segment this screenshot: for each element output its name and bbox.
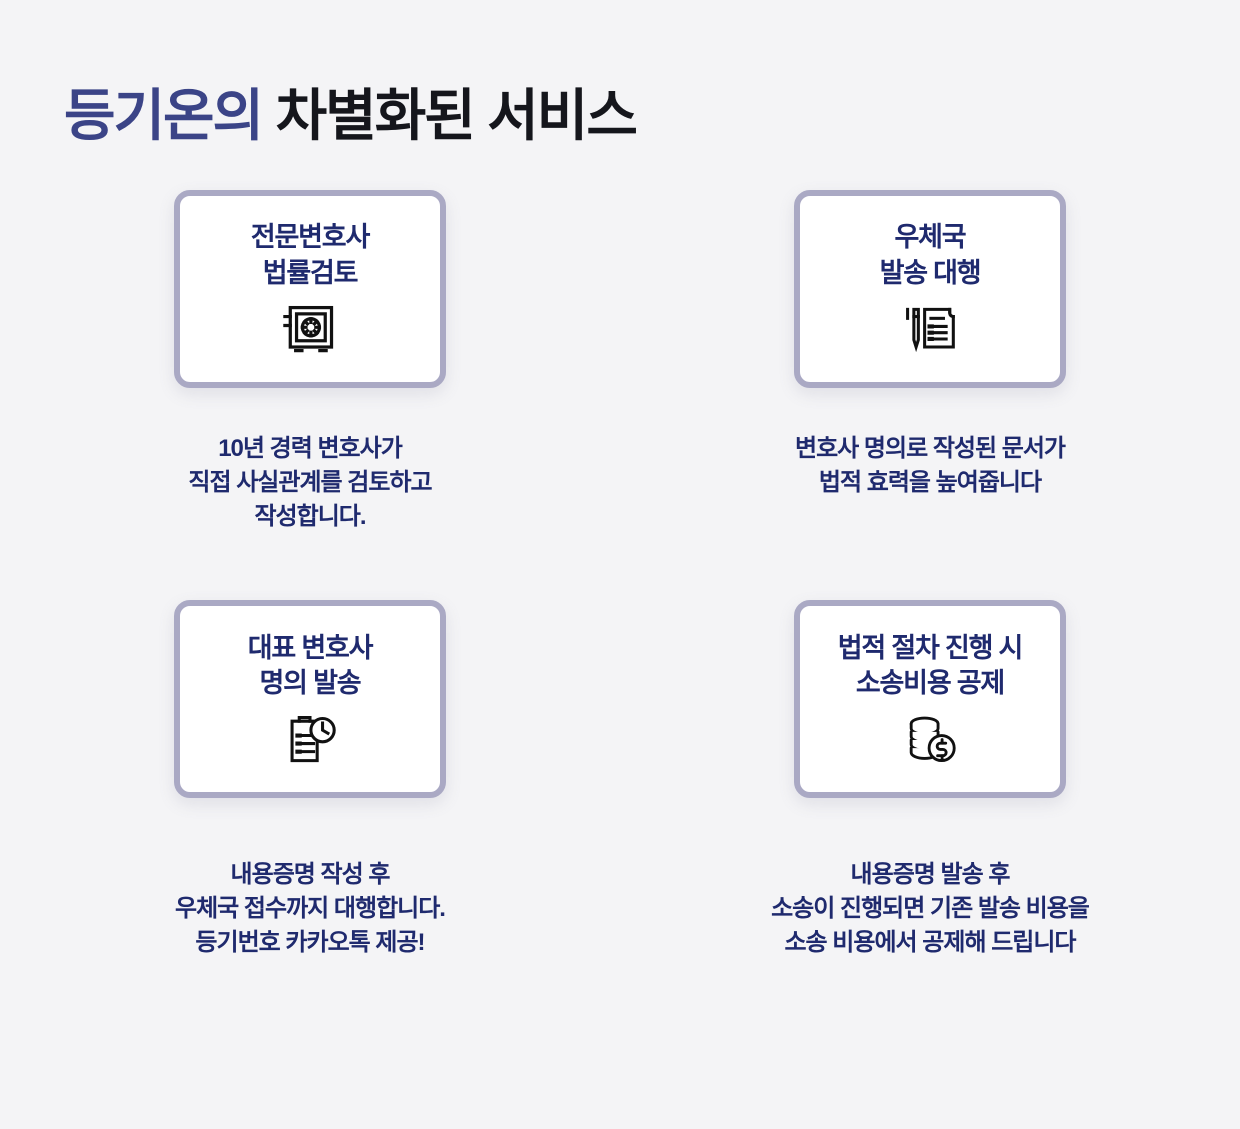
feature-caption-2: 변호사 명의로 작성된 문서가 법적 효력을 높여줍니다	[795, 432, 1065, 500]
page-title-rest: 차별화된 서비스	[262, 84, 636, 147]
feature-card-title-4: 법적 절차 진행 시 소송비용 공제	[838, 631, 1022, 702]
page-title: 등기온의 차별화된 서비스	[64, 84, 636, 148]
feature-card-title-1: 전문변호사 법률검토	[251, 220, 369, 291]
feature-card-4[interactable]: 법적 절차 진행 시 소송비용 공제	[794, 600, 1066, 798]
safe-vault-icon	[280, 304, 340, 356]
service-features-page: 등기온의 차별화된 서비스 전문변호사 법률검토 10년 경력 변호사가	[0, 0, 1240, 1129]
feature-item-4: 법적 절차 진행 시 소송비용 공제	[620, 600, 1240, 960]
feature-card-title-3: 대표 변호사 명의 발송	[248, 631, 373, 702]
feature-card-1[interactable]: 전문변호사 법률검토	[174, 190, 446, 388]
page-title-brand: 등기온의	[64, 84, 262, 147]
feature-caption-4: 내용증명 발송 후 소송이 진행되면 기존 발송 비용을 소송 비용에서 공제해…	[771, 858, 1089, 960]
feature-card-2[interactable]: 우체국 발송 대행	[794, 190, 1066, 388]
feature-caption-3: 내용증명 작성 후 우체국 접수까지 대행합니다. 등기번호 카카오톡 제공!	[175, 858, 445, 960]
feature-item-3: 대표 변호사 명의 발송 내용증명	[0, 600, 620, 960]
document-pen-icon	[900, 304, 960, 356]
feature-item-2: 우체국 발송 대행 변호사 명의로	[620, 190, 1240, 534]
feature-item-1: 전문변호사 법률검토 10년 경력 변호사가 직접 사실관계를 검토하고 작성합…	[0, 190, 620, 534]
coin-stack-dollar-icon	[900, 714, 960, 766]
feature-card-title-2: 우체국 발송 대행	[880, 220, 981, 291]
feature-card-3[interactable]: 대표 변호사 명의 발송	[174, 600, 446, 798]
clipboard-clock-icon	[280, 714, 340, 766]
feature-caption-1: 10년 경력 변호사가 직접 사실관계를 검토하고 작성합니다.	[188, 432, 431, 534]
feature-grid: 전문변호사 법률검토 10년 경력 변호사가 직접 사실관계를 검토하고 작성합…	[0, 190, 1240, 960]
